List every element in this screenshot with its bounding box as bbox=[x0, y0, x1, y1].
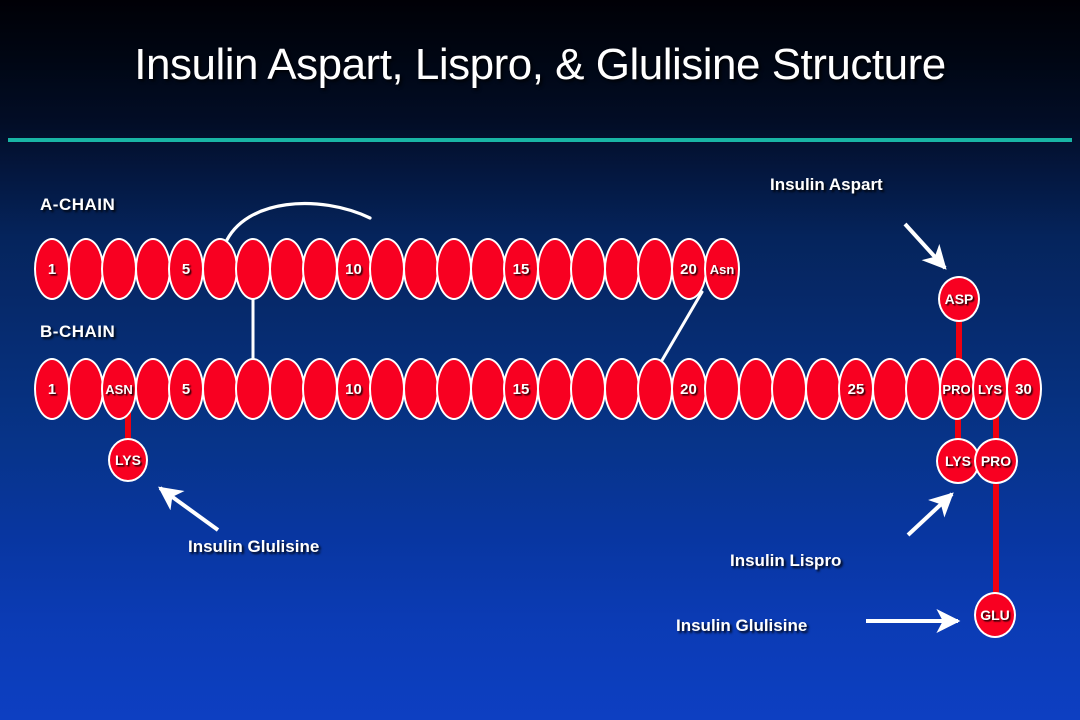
annotation-insulin-lispro: Insulin Lispro bbox=[730, 551, 841, 571]
aspart-arrow-icon bbox=[905, 224, 945, 268]
annotation-insulin-glulisine-left: Insulin Glulisine bbox=[188, 537, 319, 557]
glulisine-left-arrow-icon bbox=[160, 488, 218, 530]
lispro-arrow-icon bbox=[908, 494, 952, 535]
annotation-arrow-overlay bbox=[0, 0, 1080, 720]
annotation-insulin-glulisine-bottom: Insulin Glulisine bbox=[676, 616, 807, 636]
slide-canvas: Insulin Aspart, Lispro, & Glulisine Stru… bbox=[0, 0, 1080, 720]
annotation-insulin-aspart: Insulin Aspart bbox=[770, 175, 883, 195]
